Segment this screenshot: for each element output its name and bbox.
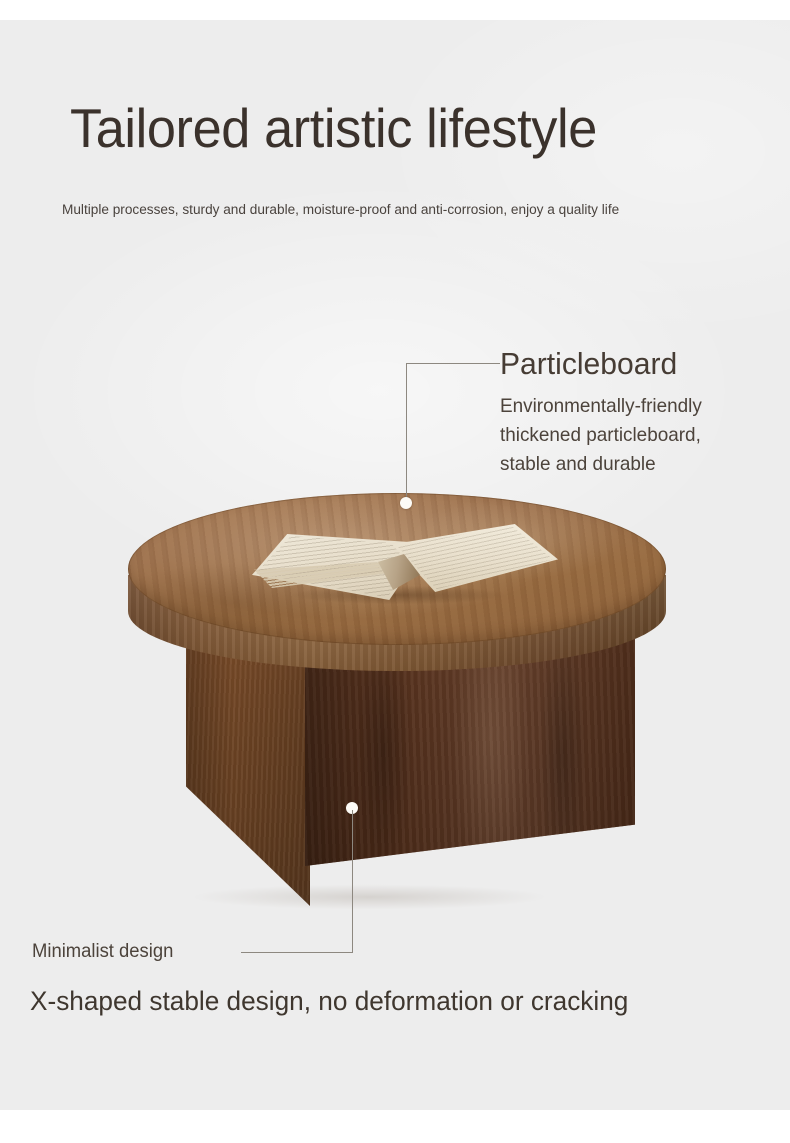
page-title: Tailored artistic lifestyle: [70, 96, 597, 160]
callout-leader-vertical-minimalist: [352, 810, 353, 953]
callout-leader-horizontal-minimalist: [241, 952, 353, 953]
callout-body-particleboard: Environmentally-friendly thickened parti…: [500, 392, 754, 479]
callout-leader-vertical-particleboard: [406, 363, 407, 503]
callout-leader-horizontal-particleboard: [406, 363, 500, 364]
callout-title-particleboard: Particleboard: [500, 345, 677, 383]
callout-label-minimalist: Minimalist design: [32, 938, 173, 966]
product-marketing-image: Tailored artistic lifestyle Multiple pro…: [0, 0, 790, 1143]
callout-dot-icon-particleboard: [400, 497, 412, 509]
bottom-caption: X-shaped stable design, no deformation o…: [30, 980, 651, 1022]
page-subtitle: Multiple processes, sturdy and durable, …: [62, 199, 619, 221]
